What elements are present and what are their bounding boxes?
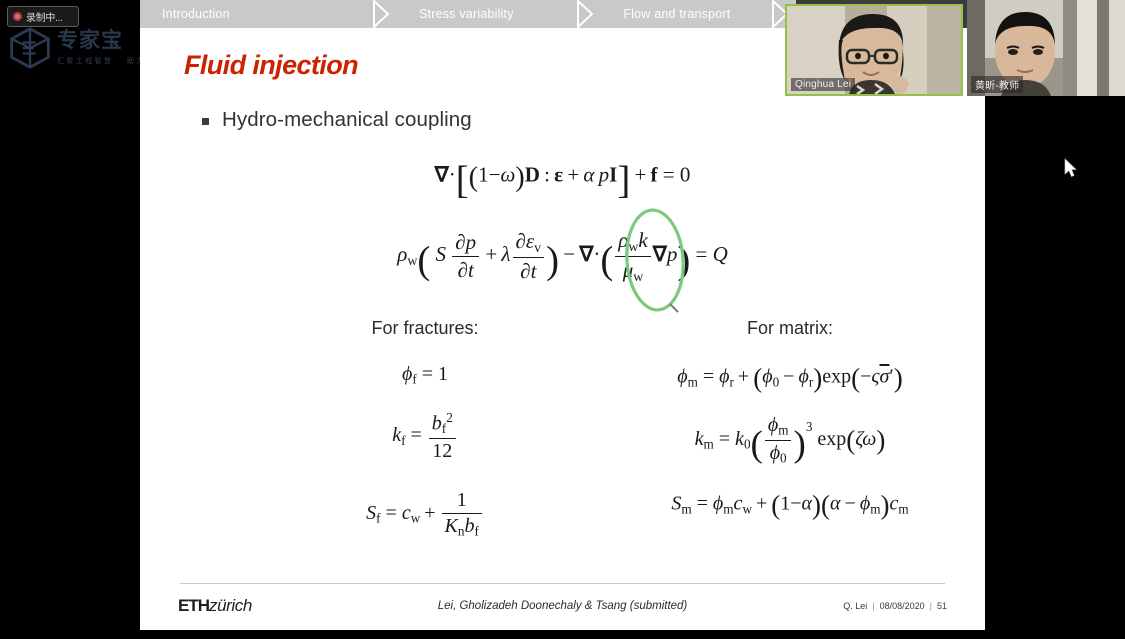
nav-tab-flow-and-transport[interactable]: Flow and transport — [601, 0, 795, 28]
video-participant-name: 黄昕-教师 — [971, 76, 1023, 93]
video-tile-active-speaker[interactable]: Qinghua Lei — [785, 4, 963, 96]
equation-matrix-porosity: ϕm = ϕr + (ϕ0 − ϕr)exp(−ςσ′) — [620, 363, 960, 394]
nav-tab-label: Introduction — [162, 7, 230, 21]
fractures-heading: For fractures: — [290, 318, 560, 339]
footer-date: 08/08/2020 — [880, 601, 925, 611]
equation-momentum-balance: ∇·[(1−ω)D : ε + α pI] + f = 0 — [140, 158, 985, 203]
equation-matrix-permeability: km = k0(ϕmϕ0)3 exp(ζω) — [620, 414, 960, 466]
matrix-column: For matrix: ϕm = ϕr + (ϕ0 − ϕr)exp(−ςσ′)… — [620, 318, 960, 521]
page-title: Fluid injection — [184, 50, 358, 81]
nav-tab-introduction[interactable]: Introduction — [140, 0, 397, 28]
bullet-item: Hydro-mechanical coupling — [202, 108, 472, 132]
chevron-right-icon — [574, 0, 602, 28]
footer-divider — [180, 583, 945, 584]
cube-logo-icon — [8, 26, 52, 70]
equation-matrix-storativity: Sm = ϕmcw + (1−α)(α − ϕm)cm — [620, 490, 960, 521]
screen-root: 录制中... 专家宝 汇聚工程智慧 · 助力行业发展 CIVIL ENGINEE… — [0, 0, 1125, 639]
matrix-heading: For matrix: — [620, 318, 960, 339]
nav-tab-label: Flow and transport — [623, 7, 730, 21]
equation-fracture-porosity: ϕf = 1 — [290, 363, 560, 388]
slide-footer-info: Q. Lei|08/08/2020|51 — [843, 601, 947, 611]
mouse-cursor — [1064, 158, 1078, 178]
bullet-label: Hydro-mechanical coupling — [222, 108, 472, 132]
video-participant-name: Qinghua Lei — [791, 78, 855, 91]
chevron-right-icon — [370, 0, 398, 28]
nav-tab-stress-variability[interactable]: Stress variability — [397, 0, 601, 28]
bullet-square-icon — [202, 118, 209, 125]
footer-author: Q. Lei — [843, 601, 867, 611]
equation-fracture-permeability: kf = bf212 — [290, 410, 560, 463]
equation-mass-balance: ρw( S ∂p∂t + λ∂εv∂t) − ∇·(ρwkμw∇p) = Q — [140, 228, 985, 285]
record-dot-icon — [13, 12, 22, 21]
footer-page-number: 51 — [937, 601, 947, 611]
video-tile-participant[interactable]: 黄昕-教师 — [967, 0, 1125, 96]
fractures-column: For fractures: ϕf = 1 kf = bf212 Sf = cw… — [290, 318, 560, 539]
equation-fracture-storativity: Sf = cw + 1Knbf — [290, 489, 560, 540]
nav-tab-label: Stress variability — [419, 7, 514, 21]
